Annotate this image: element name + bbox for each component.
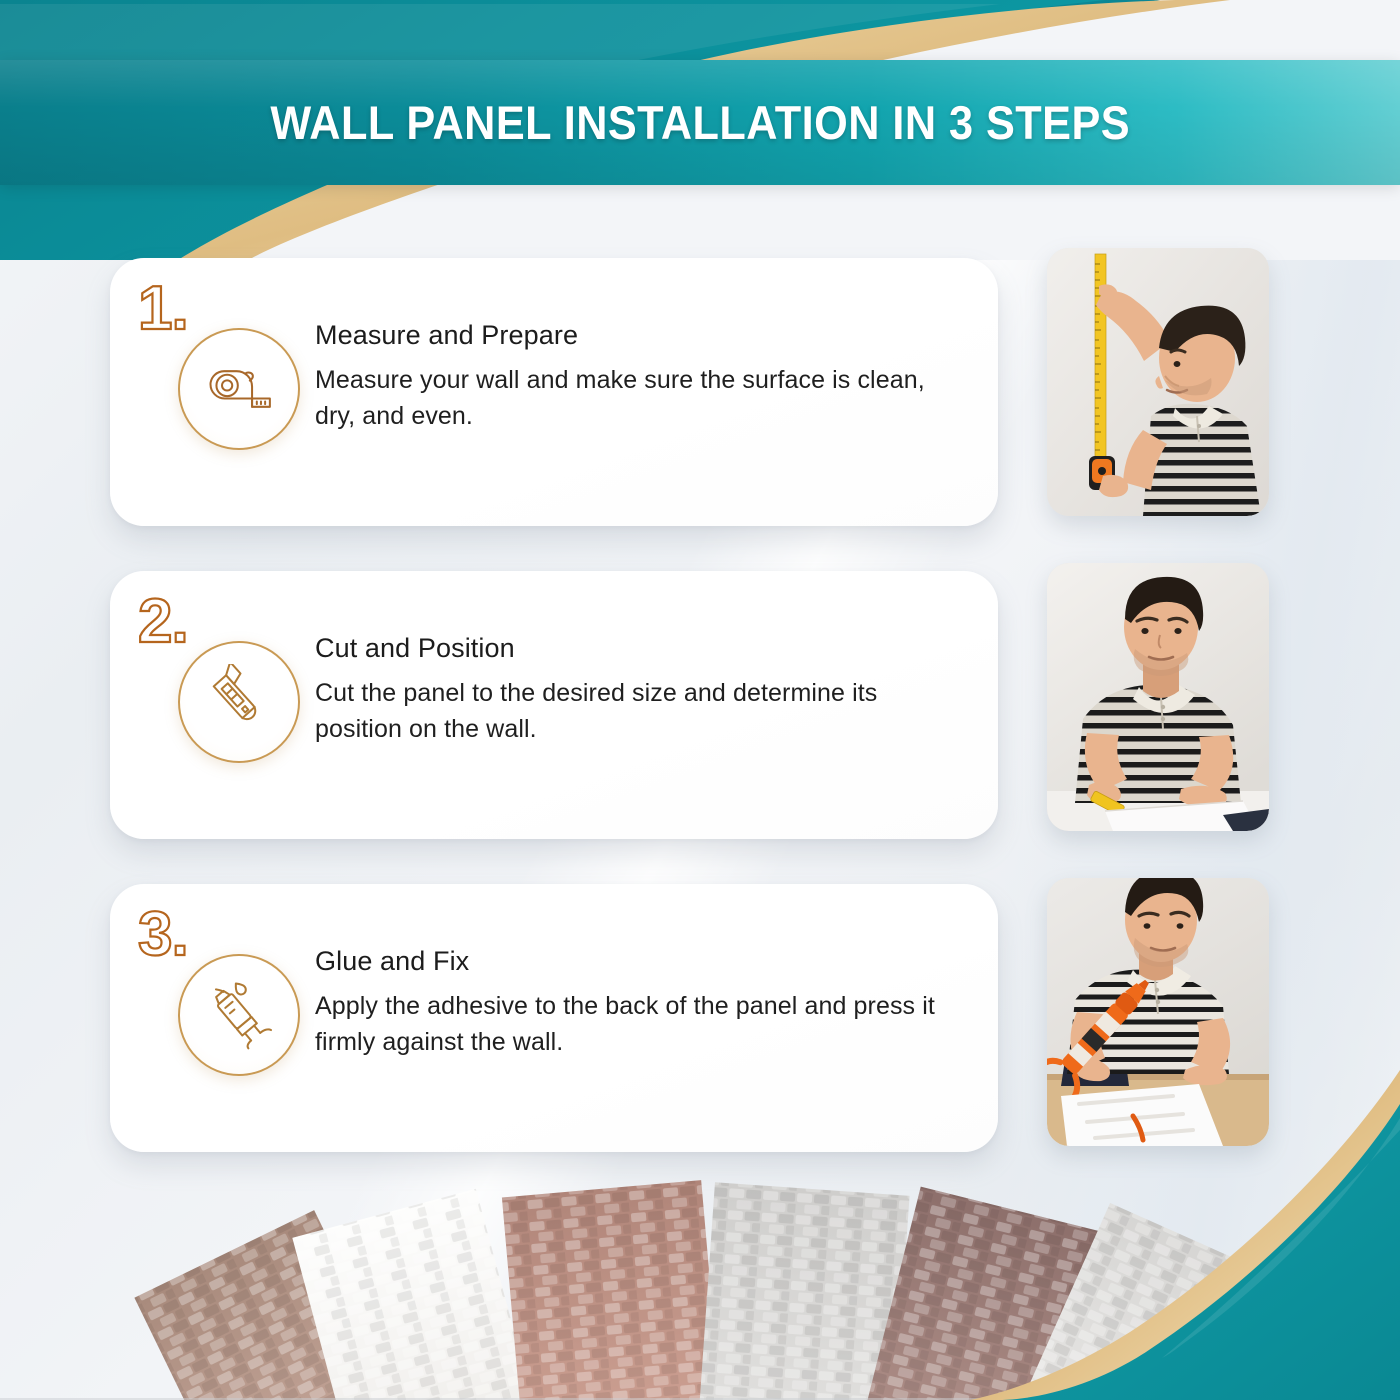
title-band: WALL PANEL INSTALLATION IN 3 STEPS — [0, 60, 1400, 185]
step-title-3: Glue and Fix — [315, 946, 965, 977]
step-body-1: Measure your wall and make sure the surf… — [315, 363, 965, 434]
step-number-1: 1. — [138, 278, 188, 340]
panel-sample-3 — [502, 1180, 723, 1400]
panel-sample-2 — [292, 1189, 538, 1400]
utility-knife-icon — [178, 641, 300, 763]
steps-list: 1. Measure and Prepare Measure your wall… — [110, 258, 1000, 1197]
step-body-2: Cut the panel to the desired size and de… — [315, 676, 965, 747]
step-title-1: Measure and Prepare — [315, 320, 965, 351]
step-card-3[interactable]: 3. Glue and Fix Apply the adhesive to th… — [110, 884, 998, 1152]
step-card-1[interactable]: 1. Measure and Prepare Measure your wall… — [110, 258, 998, 526]
caulk-gun-icon — [178, 954, 300, 1076]
page-title: WALL PANEL INSTALLATION IN 3 STEPS — [270, 95, 1130, 150]
step-card-2[interactable]: 2. Cut and Position Cut the panel to the… — [110, 571, 998, 839]
step-text-3: Glue and Fix Apply the adhesive to the b… — [315, 946, 965, 1060]
photo-cutting-panel[interactable] — [1047, 563, 1269, 831]
tape-measure-icon — [178, 328, 300, 450]
photo-measuring-wall[interactable] — [1047, 248, 1269, 516]
step-text-1: Measure and Prepare Measure your wall an… — [315, 320, 965, 434]
step-body-3: Apply the adhesive to the back of the pa… — [315, 989, 965, 1060]
step-number-2: 2. — [138, 591, 188, 653]
step-title-2: Cut and Position — [315, 633, 965, 664]
step-number-3: 3. — [138, 904, 188, 966]
bottom-decoration — [880, 1070, 1400, 1400]
step-text-2: Cut and Position Cut the panel to the de… — [315, 633, 965, 747]
